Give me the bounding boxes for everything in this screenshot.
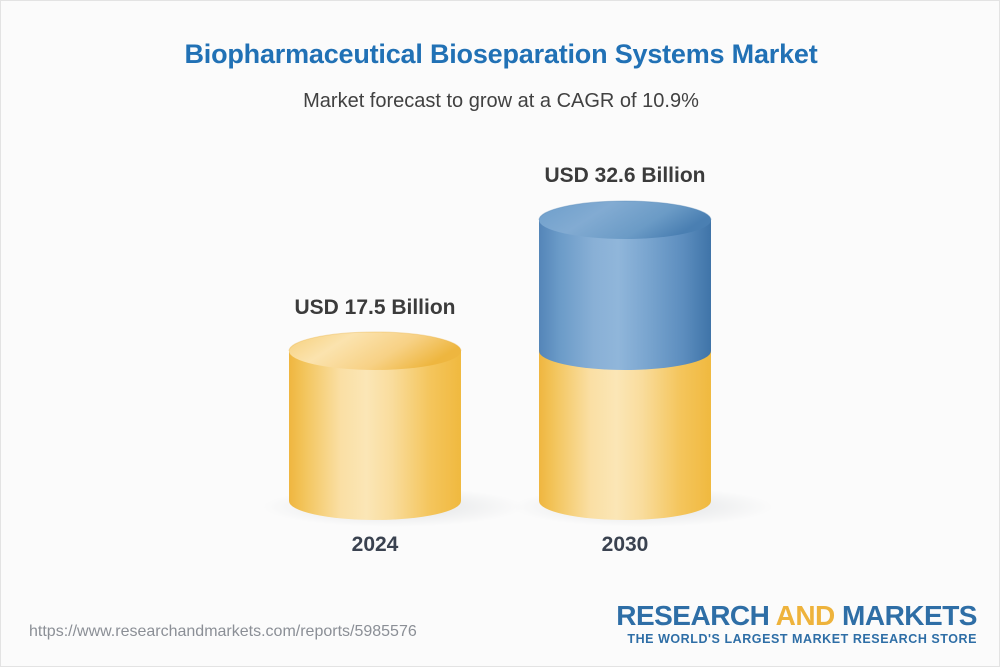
chart-canvas: Biopharmaceutical Bioseparation Systems … <box>0 0 1000 667</box>
logo-wordmark: RESEARCH AND MARKETS <box>616 601 977 630</box>
bar-2024[interactable] <box>289 332 461 520</box>
source-url[interactable]: https://www.researchandmarkets.com/repor… <box>29 623 417 641</box>
bar-2024-body <box>289 351 461 520</box>
value-label-2030: USD 32.6 Billion <box>525 164 725 188</box>
bar-2030-growth-segment <box>539 220 711 370</box>
logo-tagline: THE WORLD'S LARGEST MARKET RESEARCH STOR… <box>616 632 977 646</box>
bar-2030[interactable] <box>539 201 711 520</box>
category-label-2030: 2030 <box>555 533 695 557</box>
bar-2030-base-segment <box>539 351 711 520</box>
logo-word-research: RESEARCH <box>616 600 775 631</box>
logo-word-and: AND <box>776 600 835 631</box>
cylinder-bar-chart <box>1 1 1000 667</box>
category-label-2024: 2024 <box>305 533 445 557</box>
value-label-2024: USD 17.5 Billion <box>275 296 475 320</box>
logo-word-markets: MARKETS <box>835 600 977 631</box>
research-and-markets-logo[interactable]: RESEARCH AND MARKETS THE WORLD'S LARGEST… <box>616 601 977 646</box>
